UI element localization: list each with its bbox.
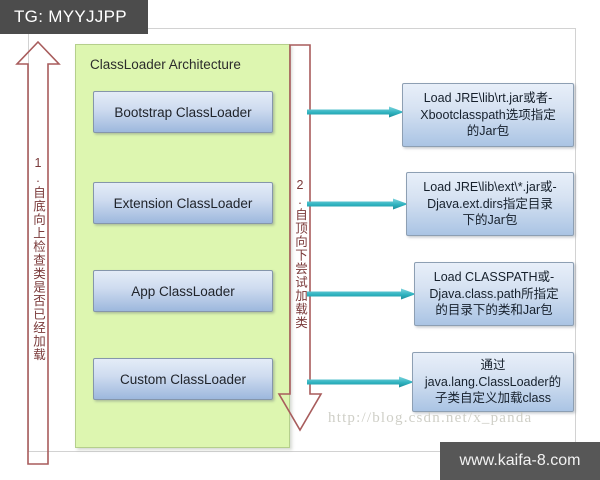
custom-description-line-1: 通过: [425, 357, 561, 374]
custom-description-line-2: java.lang.ClassLoader的: [425, 374, 561, 391]
custom-description-text: 通过 java.lang.ClassLoader的 子类自定义加载class: [425, 357, 561, 408]
extension-classloader-label: Extension ClassLoader: [114, 196, 253, 211]
bootstrap-description-line-1: Load JRE\lib\rt.jar或者-: [420, 90, 555, 107]
extension-classloader-box[interactable]: Extension ClassLoader: [93, 182, 273, 224]
app-description-line-1: Load CLASSPATH或-: [429, 269, 558, 286]
connector-arrow-extension: [307, 198, 409, 210]
bootstrap-classloader-label: Bootstrap ClassLoader: [114, 105, 251, 120]
app-classloader-description-box: Load CLASSPATH或- Djava.class.path所指定 的目录…: [414, 262, 574, 326]
bootstrap-classloader-box[interactable]: Bootstrap ClassLoader: [93, 91, 273, 133]
bottom-up-check-arrow: 1.自底向上检查类是否已经加载: [14, 38, 62, 468]
site-badge: www.kaifa-8.com: [440, 442, 600, 480]
custom-classloader-label: Custom ClassLoader: [120, 372, 246, 387]
watermark-url: http://blog.csdn.net/x_panda: [328, 410, 532, 427]
extension-description-text: Load JRE\lib\ext\*.jar或- Djava.ext.dirs指…: [423, 179, 556, 230]
tag-banner-label: TG: MYYJJPP: [14, 7, 127, 27]
app-description-line-3: 的目录下的类和Jar包: [429, 302, 558, 319]
bootstrap-classloader-description-box: Load JRE\lib\rt.jar或者- Xbootclasspath选项指…: [402, 83, 574, 147]
app-description-text: Load CLASSPATH或- Djava.class.path所指定 的目录…: [429, 269, 558, 320]
custom-classloader-description-box: 通过 java.lang.ClassLoader的 子类自定义加载class: [412, 352, 574, 412]
app-classloader-label: App ClassLoader: [131, 284, 235, 299]
app-description-line-2: Djava.class.path所指定: [429, 286, 558, 303]
custom-description-line-3: 子类自定义加载class: [425, 390, 561, 407]
connector-arrow-custom: [307, 376, 415, 388]
architecture-panel-title: ClassLoader Architecture: [90, 57, 241, 72]
app-classloader-box[interactable]: App ClassLoader: [93, 270, 273, 312]
extension-description-line-3: 下的Jar包: [423, 212, 556, 229]
tag-banner: TG: MYYJJPP: [0, 0, 148, 34]
connector-arrow-app: [307, 288, 417, 300]
connector-arrow-bootstrap: [307, 106, 405, 118]
bottom-up-check-arrow-label: 1.自底向上检查类是否已经加载: [29, 156, 48, 362]
bootstrap-description-text: Load JRE\lib\rt.jar或者- Xbootclasspath选项指…: [420, 90, 555, 141]
extension-description-line-2: Djava.ext.dirs指定目录: [423, 196, 556, 213]
bootstrap-description-line-2: Xbootclasspath选项指定: [420, 107, 555, 124]
extension-classloader-description-box: Load JRE\lib\ext\*.jar或- Djava.ext.dirs指…: [406, 172, 574, 236]
diagram-canvas: TG: MYYJJPP 1.自底向上检查类是否已经加载 ClassLoader …: [0, 0, 600, 480]
extension-description-line-1: Load JRE\lib\ext\*.jar或-: [423, 179, 556, 196]
bootstrap-description-line-3: 的Jar包: [420, 123, 555, 140]
site-badge-label: www.kaifa-8.com: [460, 452, 581, 470]
custom-classloader-box[interactable]: Custom ClassLoader: [93, 358, 273, 400]
classloader-architecture-panel: ClassLoader Architecture Bootstrap Class…: [75, 44, 290, 448]
